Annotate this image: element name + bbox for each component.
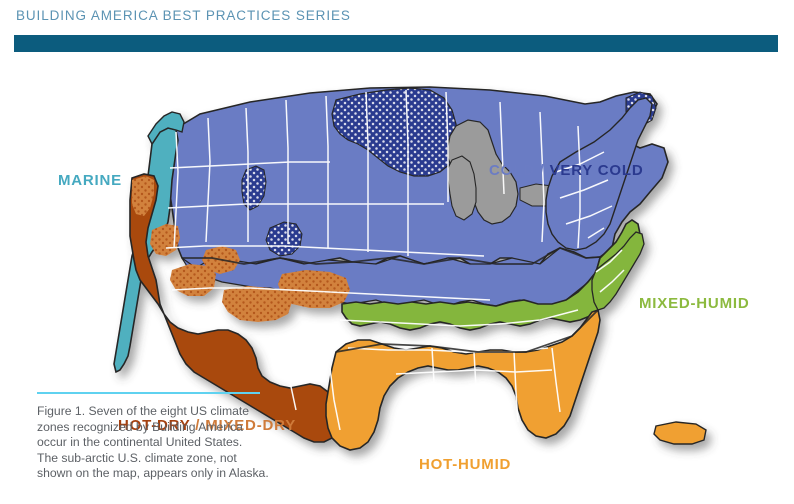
figure-page: BUILDING AMERICA BEST PRACTICES SERIES: [0, 0, 794, 504]
caption-line-3: occur in the continental United States.: [37, 435, 287, 451]
map-label-hot-humid: HOT-HUMID: [419, 456, 511, 473]
caption-line-5: shown on the map, appears only in Alaska…: [37, 466, 287, 482]
header-rule-bar: [14, 35, 778, 52]
caption-text: Figure 1. Seven of the eight US climate …: [37, 404, 287, 482]
map-label-marine: MARINE: [58, 172, 122, 189]
figure-caption: Figure 1. Seven of the eight US climate …: [37, 392, 287, 482]
caption-line-4: The sub-arctic U.S. climate zone, not: [37, 451, 287, 467]
series-title: BUILDING AMERICA BEST PRACTICES SERIES: [16, 8, 351, 23]
puerto-rico-island: [654, 422, 706, 444]
map-label-cold-separator: /: [540, 162, 545, 179]
map-label-very-cold-text: VERY COLD: [550, 162, 644, 179]
caption-rule-line: [37, 392, 260, 394]
map-label-cold-text: COLD: [489, 162, 535, 179]
caption-line-2: zones recognized by Building America: [37, 420, 287, 436]
zone-hot-humid-region: [326, 310, 600, 450]
caption-line-1: Figure 1. Seven of the eight US climate: [37, 404, 287, 420]
map-label-mixed-humid: MIXED-HUMID: [639, 295, 749, 312]
map-label-cold-very-cold: COLD / VERY COLD: [489, 162, 644, 179]
